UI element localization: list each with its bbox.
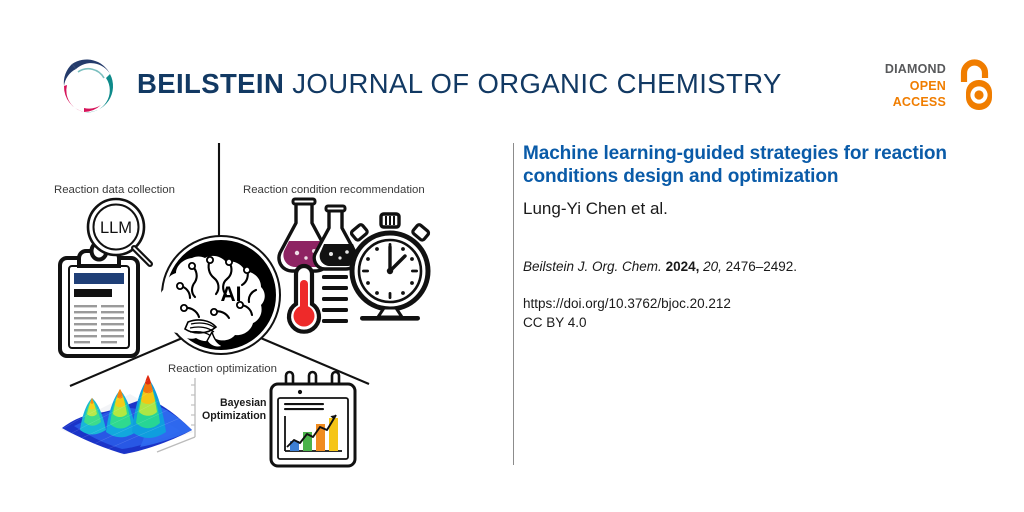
journal-title-bold: BEILSTEIN [137, 68, 284, 99]
article-citation: Beilstein J. Org. Chem. 2024, 20, 2476–2… [523, 258, 993, 276]
notepad-chart-icon [271, 372, 355, 466]
open-access-words: DIAMOND OPEN ACCESS [885, 61, 946, 111]
oa-line-open: OPEN [885, 78, 946, 95]
diamond-open-access-badge: DIAMOND OPEN ACCESS [880, 58, 998, 118]
article-doi-link[interactable]: https://doi.org/10.3762/bjoc.20.212 [523, 295, 993, 314]
article-authors: Lung-Yi Chen et al. [523, 199, 993, 219]
graphical-abstract: Reaction data collection Reaction condit… [24, 140, 494, 470]
label-bayesian-line1: Bayesian [220, 397, 267, 409]
vertical-divider [513, 143, 514, 465]
clipboard-icon [60, 243, 138, 357]
citation-volume: 20, [703, 259, 722, 274]
thermometer-icon [289, 266, 348, 332]
article-title: Machine learning-guided strategies for r… [523, 143, 993, 188]
article-license: CC BY 4.0 [523, 314, 993, 333]
citation-pages: 2476–2492. [726, 259, 797, 274]
journal-title-rest: JOURNAL OF ORGANIC CHEMISTRY [284, 68, 781, 99]
label-reaction-optimization: Reaction optimization [168, 363, 277, 375]
label-reaction-data-collection: Reaction data collection [54, 184, 175, 196]
magnifier-llm-label: LLM [100, 219, 132, 237]
journal-title: BEILSTEIN JOURNAL OF ORGANIC CHEMISTRY [137, 68, 782, 100]
oa-line-access: ACCESS [885, 94, 946, 111]
beilstein-logo-icon [54, 52, 124, 118]
ai-brain-label: AI [221, 283, 242, 306]
masthead: BEILSTEIN JOURNAL OF ORGANIC CHEMISTRY D… [0, 0, 1024, 140]
label-reaction-condition-recommendation: Reaction condition recommendation [243, 184, 425, 196]
label-bayesian-line2: Optimization [202, 410, 266, 422]
citation-journal: Beilstein J. Org. Chem. [523, 259, 662, 274]
poster-canvas: BEILSTEIN JOURNAL OF ORGANIC CHEMISTRY D… [0, 0, 1024, 512]
oa-line-diamond: DIAMOND [885, 61, 946, 78]
surface-plot-icon [60, 375, 195, 455]
open-access-lock-icon [952, 58, 998, 114]
article-info: Machine learning-guided strategies for r… [523, 143, 993, 332]
stopwatch-icon [350, 214, 429, 321]
ai-brain-icon: AI [159, 236, 280, 354]
citation-year: 2024, [666, 259, 700, 274]
